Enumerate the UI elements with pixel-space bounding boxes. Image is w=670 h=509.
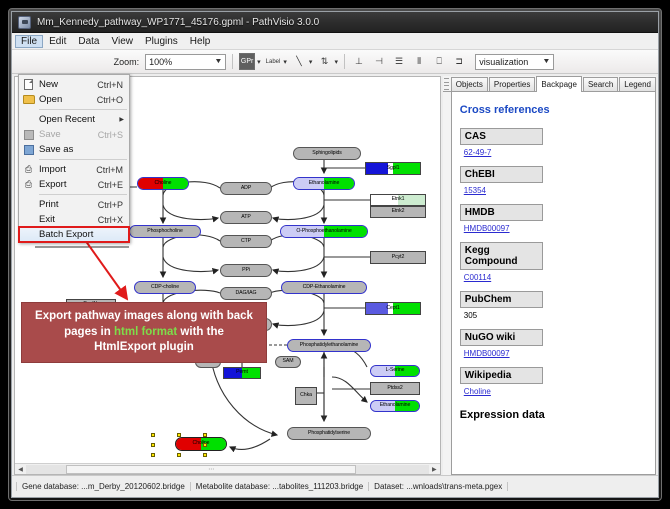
menu-item-new[interactable]: NewCtrl+N: [19, 77, 129, 92]
interaction-button[interactable]: ⇅: [316, 53, 332, 70]
save-icon: [22, 129, 35, 141]
menu-plugins[interactable]: Plugins: [139, 35, 184, 48]
zoom-value: 100%: [149, 57, 172, 67]
cross-reference-list: CAS62-49-7ChEBI15354HMDBHMDB00097Kegg Co…: [460, 128, 655, 405]
menu-item-shortcut: Ctrl+N: [97, 80, 129, 90]
menu-file[interactable]: File: [15, 35, 43, 48]
menu-separator: [39, 159, 127, 160]
status-bar: Gene database: ...m_Derby_20120602.bridg…: [12, 475, 658, 497]
xref-value-pubchem: 305: [460, 308, 655, 329]
chevron-down-icon: ▼: [215, 58, 223, 65]
interaction-dropdown-icon[interactable]: ▾: [334, 58, 338, 66]
ungroup-icon[interactable]: ⊐: [451, 53, 467, 70]
tab-search[interactable]: Search: [583, 77, 618, 91]
align-left-icon[interactable]: ⊣: [371, 53, 387, 70]
open-folder-icon: [22, 94, 35, 106]
menu-item-label: Open Recent: [39, 114, 129, 125]
zoom-combo[interactable]: 100% ▼: [145, 54, 226, 70]
menu-item-shortcut: Ctrl+O: [97, 95, 129, 105]
xref-value-wikipedia[interactable]: Choline: [460, 384, 655, 405]
side-tabstrip: Objects Properties Backpage Search Legen…: [443, 76, 656, 92]
backpage-content: Cross references CAS62-49-7ChEBI15354HMD…: [451, 92, 656, 475]
menu-data[interactable]: Data: [72, 35, 105, 48]
align-top-icon[interactable]: ⊥: [351, 53, 367, 70]
menu-item-label: Exit: [39, 214, 98, 225]
status-metabolite-database: Metabolite database: ...tabolites_111203…: [191, 482, 369, 491]
menu-item-label: Print: [39, 199, 98, 210]
tab-objects[interactable]: Objects: [451, 77, 488, 91]
menu-item-label: Save as: [39, 144, 129, 155]
menu-item-label: Save: [39, 129, 98, 140]
xref-db-cas: CAS: [460, 128, 543, 145]
new-document-icon: [22, 79, 35, 91]
menu-item-open-recent[interactable]: Open Recent▶: [19, 112, 129, 127]
save-as-icon: [22, 144, 35, 156]
menu-item-import[interactable]: ⎙ImportCtrl+M: [19, 162, 129, 177]
menu-separator: [39, 109, 127, 110]
menu-item-shortcut: Ctrl+S: [98, 130, 129, 140]
xref-value-nugo-wiki[interactable]: HMDB00097: [460, 346, 655, 367]
menu-edit[interactable]: Edit: [43, 35, 72, 48]
menu-view[interactable]: View: [105, 35, 139, 48]
import-icon: ⎙: [22, 164, 35, 176]
menu-item-shortcut: Ctrl+E: [98, 180, 129, 190]
menu-item-exit[interactable]: ExitCtrl+X: [19, 212, 129, 227]
chevron-down-icon-2: ▼: [543, 58, 551, 65]
menu-item-save[interactable]: SaveCtrl+S: [19, 127, 129, 142]
xref-value-kegg-compound[interactable]: C00114: [460, 270, 655, 291]
menu-item-label: Batch Export: [39, 229, 129, 240]
menu-bar: File Edit Data View Plugins Help: [12, 33, 658, 50]
status-gene-database: Gene database: ...m_Derby_20120602.bridg…: [16, 482, 191, 491]
xref-db-chebi: ChEBI: [460, 166, 543, 183]
xref-value-chebi[interactable]: 15354: [460, 183, 655, 204]
menu-separator: [39, 194, 127, 195]
distribute-icon[interactable]: ⦀: [411, 53, 427, 70]
file-menu-dropdown[interactable]: NewCtrl+NOpenCtrl+OOpen Recent▶SaveCtrl+…: [18, 74, 130, 243]
menu-item-shortcut: Ctrl+X: [98, 215, 129, 225]
submenu-arrow-icon: ▶: [119, 116, 124, 123]
visualization-combo[interactable]: visualization ▼: [475, 54, 554, 70]
xref-value-cas[interactable]: 62-49-7: [460, 145, 655, 166]
menu-item-shortcut: Ctrl+M: [96, 165, 129, 175]
menu-item-batch-export[interactable]: Batch Export: [19, 227, 129, 242]
label-dropdown-icon[interactable]: ▾: [283, 58, 287, 66]
menu-item-print[interactable]: PrintCtrl+P: [19, 197, 129, 212]
menu-help[interactable]: Help: [184, 35, 217, 48]
menu-item-label: Open: [39, 94, 97, 105]
menu-item-label: Import: [39, 164, 96, 175]
tab-legend[interactable]: Legend: [619, 77, 656, 91]
side-panel: Objects Properties Backpage Search Legen…: [443, 76, 656, 475]
toolbar-separator: [232, 54, 233, 69]
line-button[interactable]: ╲: [291, 53, 307, 70]
expression-data-heading: Expression data: [460, 409, 655, 421]
panel-grip-icon[interactable]: [444, 78, 449, 90]
xref-db-pubchem: PubChem: [460, 291, 543, 308]
export-icon: ⎙: [22, 179, 35, 191]
visualization-value: visualization: [479, 57, 528, 67]
window-title: Mm_Kennedy_pathway_WP1771_45176.gpml - P…: [37, 17, 319, 28]
stack-center-icon[interactable]: ☰: [391, 53, 407, 70]
cross-references-heading: Cross references: [460, 104, 655, 116]
menu-item-save-as[interactable]: Save as: [19, 142, 129, 157]
toolbar-separator-2: [344, 54, 345, 69]
tab-properties[interactable]: Properties: [489, 77, 535, 91]
tab-backpage[interactable]: Backpage: [536, 76, 582, 92]
xref-value-hmdb[interactable]: HMDB00097: [460, 221, 655, 242]
group-icon[interactable]: ⎕: [431, 53, 447, 70]
screenshot-root: Mm_Kennedy_pathway_WP1771_45176.gpml - P…: [0, 0, 670, 509]
xref-db-nugo-wiki: NuGO wiki: [460, 329, 543, 346]
datanode-dropdown-icon[interactable]: ▾: [257, 58, 261, 66]
menu-item-export[interactable]: ⎙ExportCtrl+E: [19, 177, 129, 192]
status-dataset: Dataset: ...wnloads\trans-meta.pgex: [369, 482, 508, 491]
menu-item-label: New: [39, 79, 97, 90]
menu-item-label: Export: [39, 179, 98, 190]
label-button[interactable]: Label: [265, 53, 282, 70]
xref-db-hmdb: HMDB: [460, 204, 543, 221]
application-window: Mm_Kennedy_pathway_WP1771_45176.gpml - P…: [8, 8, 662, 501]
pathvisio-icon: [18, 16, 31, 29]
xref-db-wikipedia: Wikipedia: [460, 367, 543, 384]
datanode-shape-button[interactable]: GPr: [239, 53, 255, 70]
menu-item-shortcut: Ctrl+P: [98, 200, 129, 210]
line-dropdown-icon[interactable]: ▾: [309, 58, 313, 66]
zoom-label: Zoom:: [114, 57, 140, 67]
toolbar: Zoom: 100% ▼ GPr ▾ Label ▾ ╲ ▾ ⇅ ▾ ⊥ ⊣ ☰…: [12, 50, 658, 74]
title-bar: Mm_Kennedy_pathway_WP1771_45176.gpml - P…: [12, 12, 658, 33]
xref-db-kegg-compound: Kegg Compound: [460, 242, 543, 270]
menu-item-open[interactable]: OpenCtrl+O: [19, 92, 129, 107]
